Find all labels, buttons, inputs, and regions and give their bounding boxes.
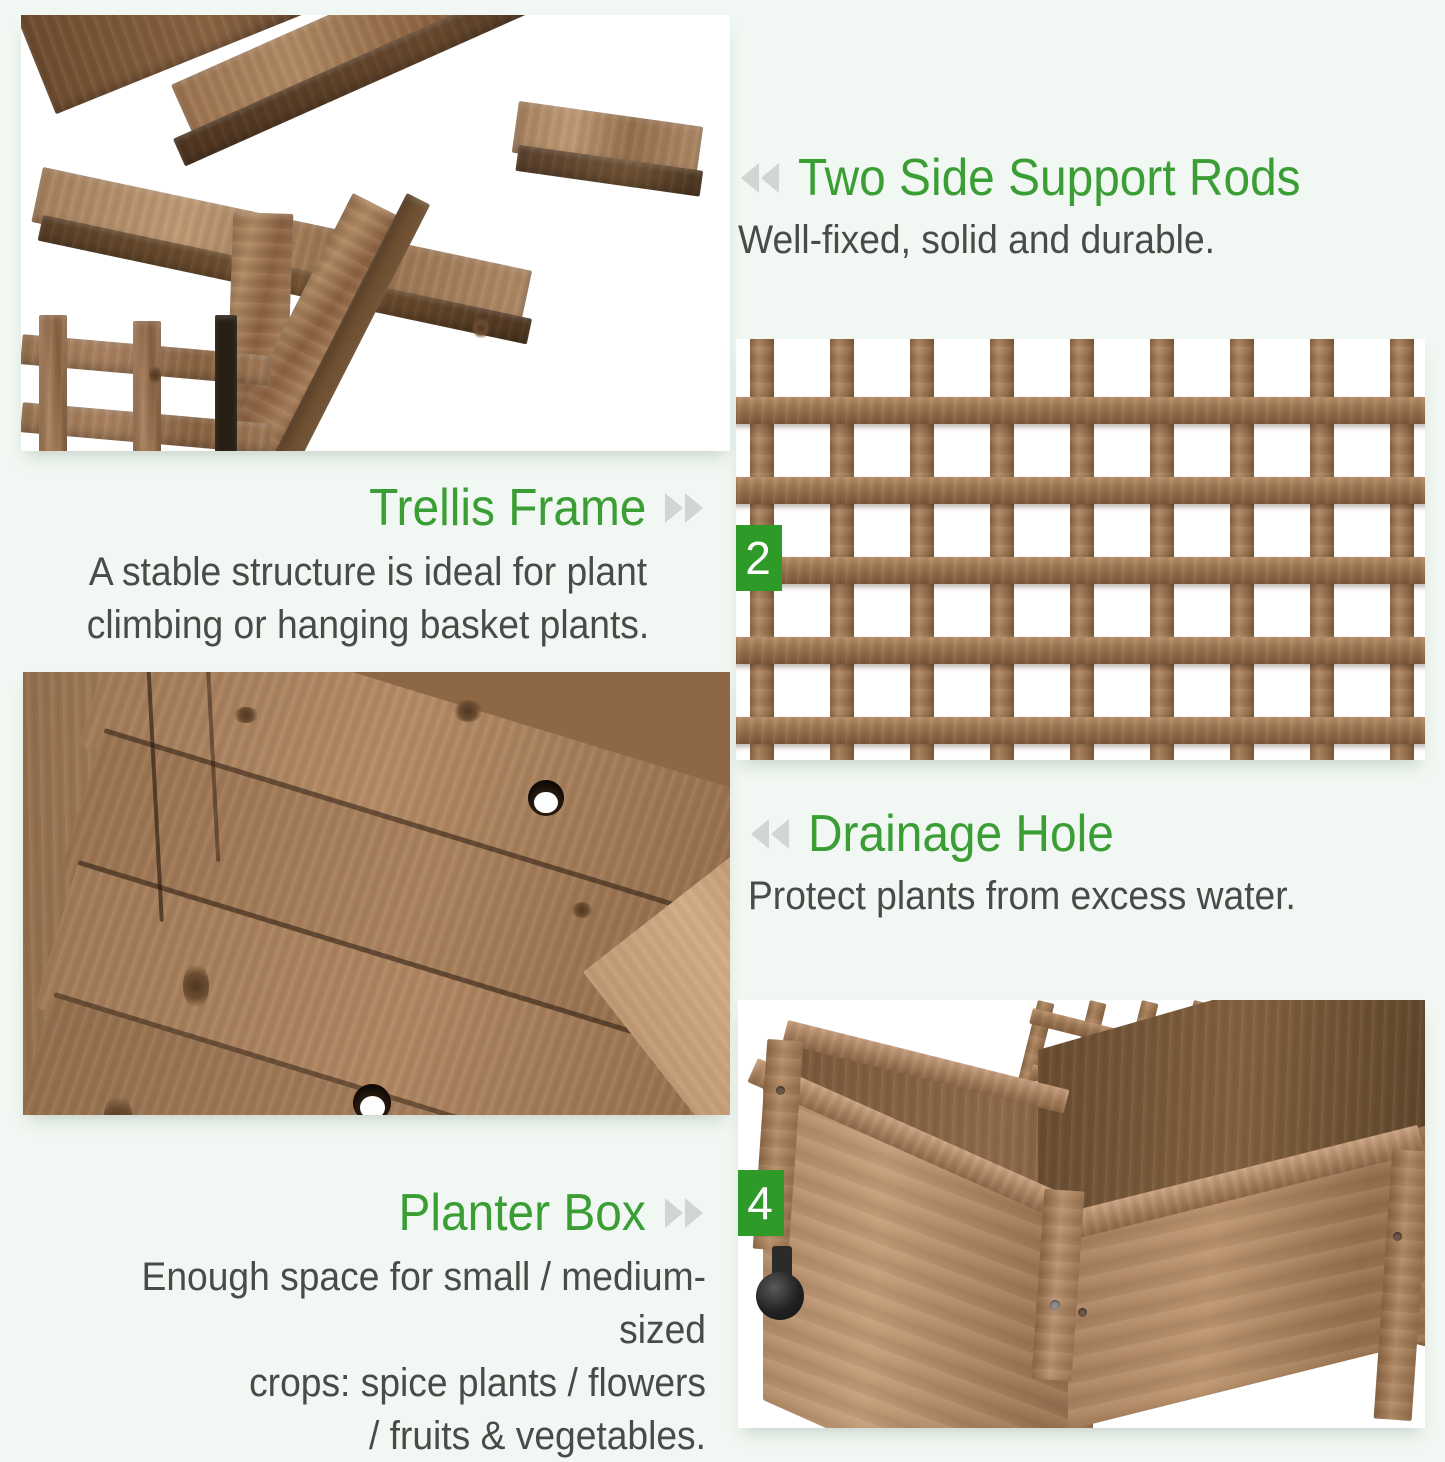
feature-body-1: Well-fixed, solid and durable. [738, 214, 1380, 267]
feature-badge-4: 4 [738, 1170, 784, 1236]
feature-text-2: Trellis Frame A stable structure is idea… [30, 480, 706, 652]
planter-box-photo: 4 [738, 1000, 1425, 1428]
feature-heading-row-3: Drainage Hole [748, 806, 1438, 862]
feature-heading-3: Drainage Hole [808, 806, 1114, 862]
double-chevron-right-icon [662, 1195, 706, 1231]
feature-text-4: Planter Box Enough space for small / med… [10, 1185, 706, 1462]
double-chevron-left-icon [738, 160, 782, 196]
feature-body-3: Protect plants from excess water. [748, 870, 1390, 923]
drainage-hole-lower [353, 1084, 391, 1115]
feature-heading-row-2: Trellis Frame [30, 480, 706, 536]
drainage-hole-photo: 3 [23, 672, 730, 1115]
feature-heading-4: Planter Box [399, 1185, 646, 1241]
feature-badge-2: 2 [736, 525, 782, 591]
feature-body-4: Enough space for small / medium-sized cr… [59, 1251, 706, 1462]
feature-heading-2: Trellis Frame [369, 480, 646, 536]
feature-heading-row-1: Two Side Support Rods [738, 150, 1428, 206]
double-chevron-right-icon [662, 490, 706, 526]
feature-body-2: A stable structure is ideal for plant cl… [54, 546, 683, 652]
feature-text-3: Drainage Hole Protect plants from excess… [748, 806, 1438, 923]
trellis-frame-photo: 2 [736, 339, 1425, 760]
support-rods-photo: 1 [21, 15, 730, 451]
drainage-hole-upper [528, 780, 564, 816]
feature-heading-1: Two Side Support Rods [798, 150, 1301, 206]
double-chevron-left-icon [748, 816, 792, 852]
feature-heading-row-4: Planter Box [10, 1185, 706, 1241]
infographic-canvas: 1 Two Side Support Rods Well-fixed, soli… [0, 0, 1445, 1445]
feature-text-1: Two Side Support Rods Well-fixed, solid … [738, 150, 1428, 267]
